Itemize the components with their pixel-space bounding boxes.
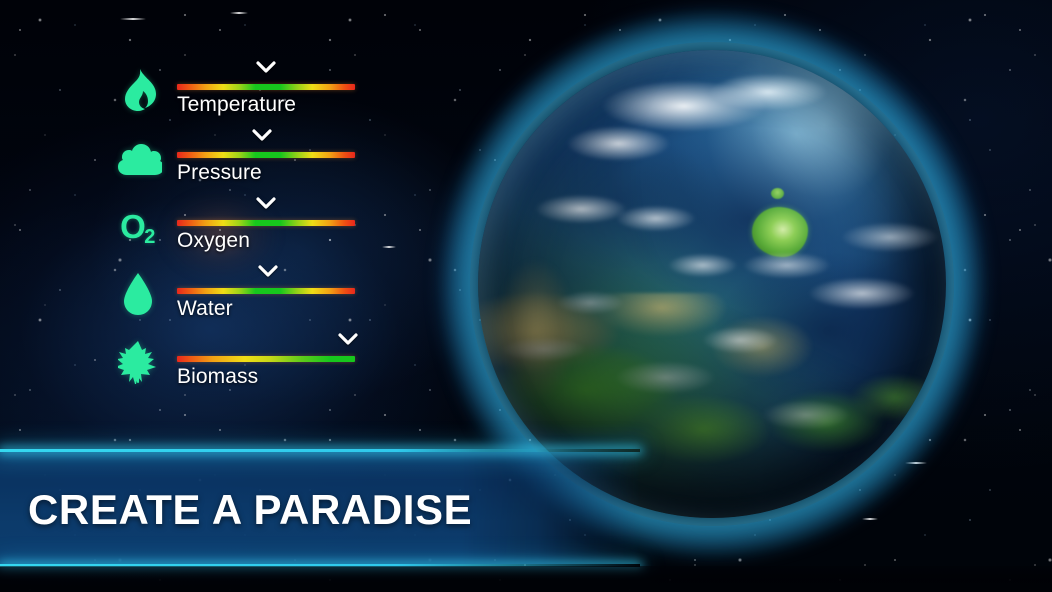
o2-subscript: 2 [144, 226, 155, 248]
stat-row-biomass[interactable]: Biomass [110, 334, 380, 402]
headline-text: CREATE A PARADISE [28, 486, 472, 534]
chevron-down-icon [256, 197, 276, 210]
stat-label-temperature: Temperature [177, 93, 296, 117]
star-streak [382, 246, 396, 248]
stat-row-pressure[interactable]: Pressure [110, 130, 380, 198]
chevron-down-icon [256, 61, 276, 74]
stat-label-pressure: Pressure [177, 161, 262, 185]
stat-row-temperature[interactable]: Temperature [110, 62, 380, 130]
gauge-bar-biomass [177, 356, 355, 362]
game-screen: Temperature Pressure O2 [0, 0, 1052, 592]
chevron-down-icon [258, 265, 278, 278]
flame-icon [110, 62, 166, 118]
stat-label-biomass: Biomass [177, 365, 258, 389]
planet-container[interactable] [478, 50, 946, 518]
planet-limb-highlight [478, 50, 946, 518]
star-streak [120, 18, 146, 20]
star-streak [230, 12, 248, 14]
stat-row-water[interactable]: Water [110, 266, 380, 334]
planet-stats-panel: Temperature Pressure O2 [110, 62, 380, 402]
gauge-bar-temperature [177, 84, 355, 90]
gauge-bar-pressure [177, 152, 355, 158]
leaf-icon [110, 334, 166, 390]
water-drop-icon [110, 266, 166, 322]
banner-top-glow-line [0, 449, 640, 452]
bottom-letterbox [0, 566, 1052, 592]
stat-label-oxygen: Oxygen [177, 229, 250, 253]
gauge-bar-water [177, 288, 355, 294]
star-streak [862, 518, 878, 520]
cloud-icon [110, 130, 166, 186]
gauge-bar-oxygen [177, 220, 355, 226]
chevron-down-icon [252, 129, 272, 142]
chevron-down-icon [338, 333, 358, 346]
o2-icon-text: O2 [120, 210, 156, 243]
o2-icon: O2 [110, 198, 166, 254]
planet-sphere[interactable] [478, 50, 946, 518]
stat-row-oxygen[interactable]: O2 Oxygen [110, 198, 380, 266]
stat-label-water: Water [177, 297, 233, 321]
